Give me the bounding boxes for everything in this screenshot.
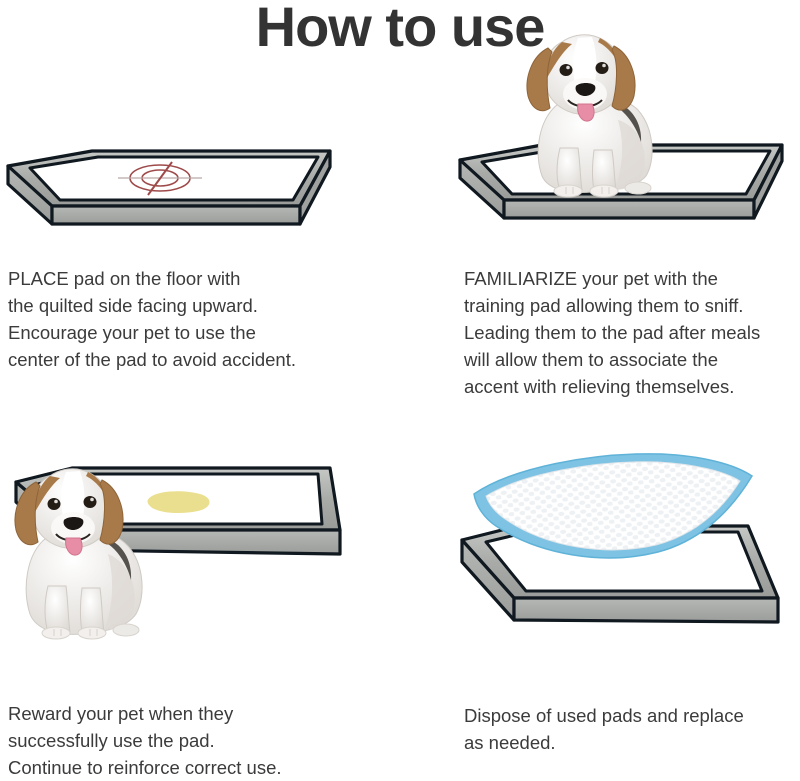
caption-place: PLACE pad on the floor with the quilted … bbox=[8, 265, 296, 373]
caption-dispose: Dispose of used pads and replace as need… bbox=[464, 702, 744, 756]
illustration-tray-with-target bbox=[0, 140, 340, 250]
step-panel-familiarize: FAMILIARIZE your pet with the training p… bbox=[400, 120, 800, 400]
step-panel-place: PLACE pad on the floor with the quilted … bbox=[0, 120, 400, 380]
illustration-puppy-on-tray bbox=[442, 8, 800, 248]
caption-reward: Reward your pet when they successfully u… bbox=[8, 700, 282, 781]
puppy-stain-tray-svg bbox=[0, 454, 360, 664]
tray-front-wall bbox=[514, 598, 778, 622]
step-panel-dispose: Dispose of used pads and replace as need… bbox=[400, 440, 800, 778]
puppy-tray-svg bbox=[442, 8, 800, 248]
tray-front-wall bbox=[52, 206, 300, 224]
illustration-puppy-beside-tray bbox=[0, 454, 360, 664]
tray-front-wall bbox=[504, 200, 754, 218]
tray-target-svg bbox=[0, 140, 340, 250]
instruction-page: How to use bbox=[0, 0, 800, 778]
beagle-puppy bbox=[527, 35, 652, 197]
pad-lift-svg bbox=[452, 450, 792, 670]
step-panel-reward: Reward your pet when they successfully u… bbox=[0, 460, 400, 778]
stain-mark bbox=[148, 491, 210, 513]
caption-familiarize: FAMILIARIZE your pet with the training p… bbox=[464, 265, 760, 400]
illustration-pad-lifted-above-tray bbox=[452, 450, 792, 670]
